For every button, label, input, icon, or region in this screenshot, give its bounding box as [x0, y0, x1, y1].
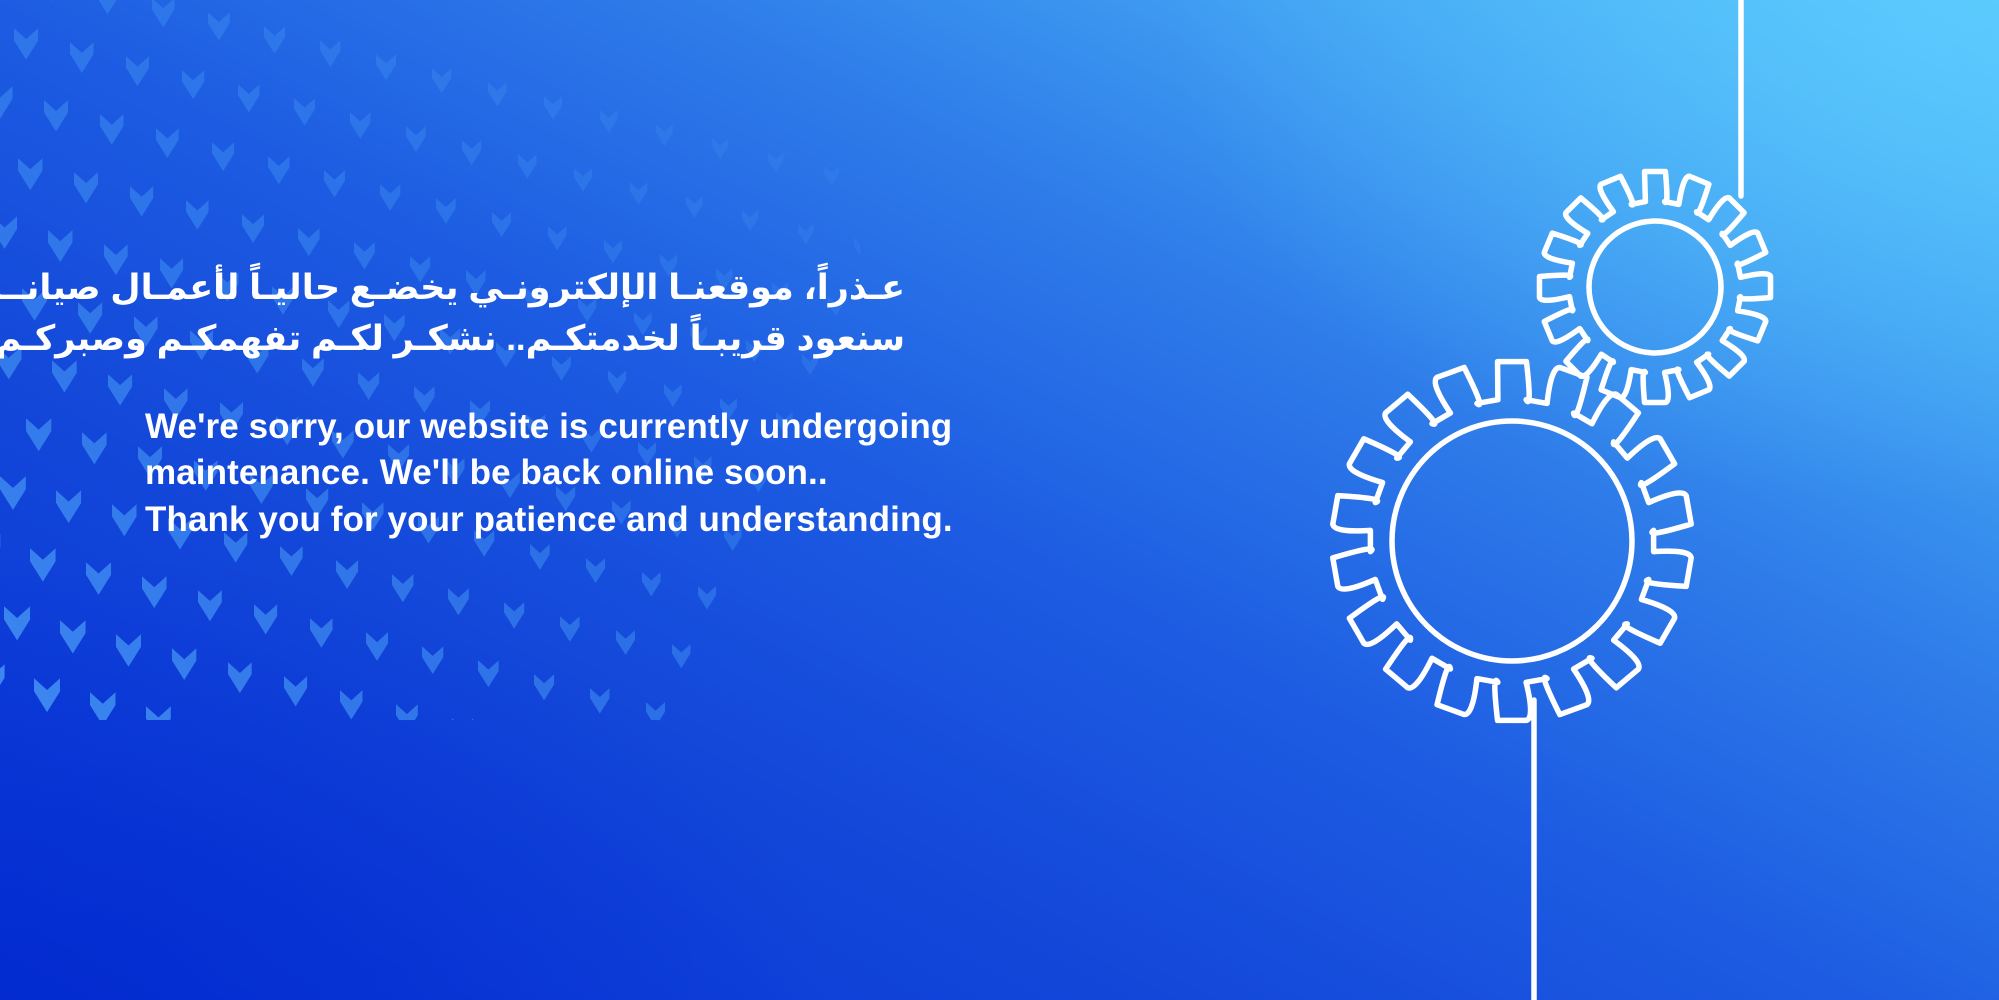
english-line-2: maintenance. We'll be back online soon..	[145, 450, 905, 496]
arabic-line-2: سنعود قريبـاً لخدمتكـم.. نشكـر لكـم تفهم…	[145, 313, 905, 364]
maintenance-page: عـذراً، موقعنـا الإلكترونـي يخضـع حاليـا…	[0, 0, 1999, 1000]
english-line-1: We're sorry, our website is currently un…	[145, 404, 905, 450]
arabic-line-1: عـذراً، موقعنـا الإلكترونـي يخضـع حاليـا…	[145, 262, 905, 313]
message-block: عـذراً، موقعنـا الإلكترونـي يخضـع حاليـا…	[145, 262, 905, 543]
english-message: We're sorry, our website is currently un…	[145, 404, 905, 543]
arabic-message: عـذراً، موقعنـا الإلكترونـي يخضـع حاليـا…	[145, 262, 905, 364]
english-line-3: Thank you for your patience and understa…	[145, 497, 905, 543]
